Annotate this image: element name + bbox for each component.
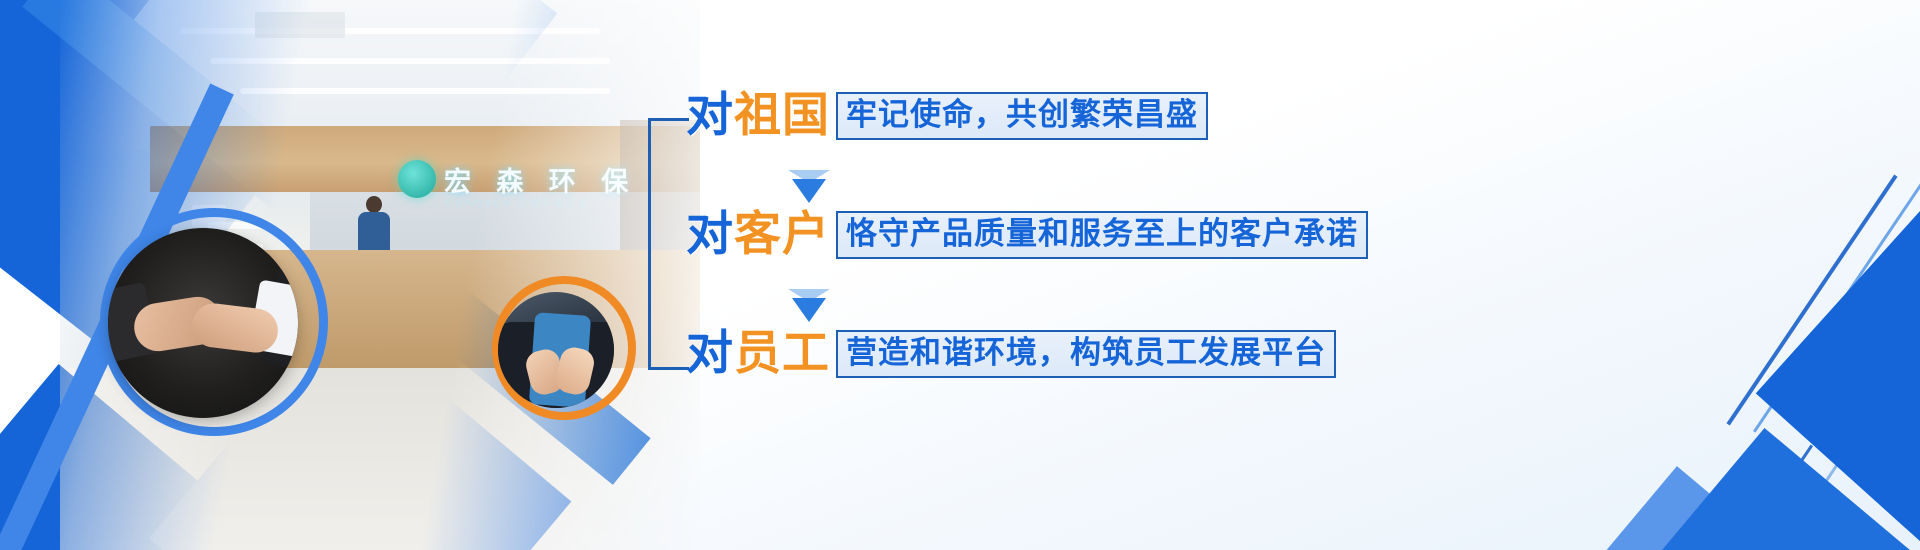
slogan-target: 祖国: [734, 88, 830, 143]
slogan-row-yuangong: 对员工 营造和谐环境，构筑员工发展平台: [686, 330, 1336, 378]
slogan-prefix: 对: [686, 88, 734, 143]
slogan-headline: 对客户: [686, 211, 830, 258]
ceiling-light-strip: [180, 28, 600, 34]
slogan-headline: 对祖国: [686, 92, 830, 139]
slogan-row-zuguo: 对祖国 牢记使命，共创繁荣昌盛: [686, 92, 1208, 140]
ceiling-panel: [255, 12, 345, 38]
ceiling-light-strip: [240, 88, 610, 94]
arrow-down-bottom-part: [792, 179, 826, 203]
slogan-tagline-box: 恪守产品质量和服务至上的客户承诺: [836, 211, 1368, 259]
slogan-target: 客户: [734, 207, 830, 262]
ceiling-light-strip: [210, 58, 610, 64]
company-logo-subtext: HONGSEN 正规环保企业: [446, 196, 590, 209]
bracket-connector: [648, 118, 689, 370]
slogan-headline: 对员工: [686, 330, 830, 377]
office-receptionist: [356, 196, 392, 258]
company-logo-text: 宏 森 环 保: [444, 160, 636, 199]
slogan-prefix: 对: [686, 326, 734, 381]
company-logo-mark: [398, 160, 436, 198]
slogan-tagline-box: 牢记使命，共创繁荣昌盛: [836, 92, 1208, 140]
slogan-prefix: 对: [686, 207, 734, 262]
slogan-row-kehu: 对客户 恪守产品质量和服务至上的客户承诺: [686, 211, 1368, 259]
applause-photo: [498, 292, 614, 408]
handshake-photo: [108, 228, 298, 418]
arrow-down-bottom-part: [792, 298, 826, 322]
slogan-group: 对祖国 牢记使命，共创繁荣昌盛 对客户 恪守产品质量和服务至上的客户承诺 对员工…: [648, 70, 1608, 400]
slogan-target: 员工: [734, 326, 830, 381]
promo-banner: 宏 森 环 保 HONGSEN 正规环保企业: [0, 0, 1920, 550]
slogan-tagline-box: 营造和谐环境，构筑员工发展平台: [836, 330, 1336, 378]
receptionist-head: [366, 196, 382, 213]
